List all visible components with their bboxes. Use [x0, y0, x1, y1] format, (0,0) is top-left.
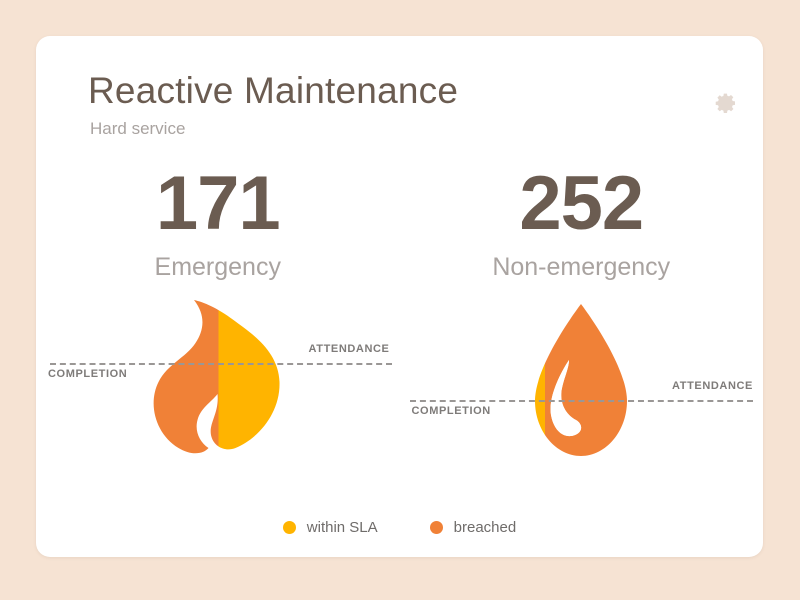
metric-value-non-emergency: 252 [519, 168, 643, 240]
settings-button[interactable] [709, 86, 743, 120]
legend-dot-orange-icon [430, 521, 443, 534]
completion-marker-label-emergency: COMPLETION [48, 368, 127, 380]
legend-label-within-sla: within SLA [307, 520, 378, 535]
metrics-row: 171 Emergency ATTENDANCE COMPLE [36, 168, 763, 478]
page-subtitle: Hard service [90, 119, 458, 139]
card-header: Reactive Maintenance Hard service [88, 70, 458, 139]
metric-label-non-emergency: Non-emergency [492, 254, 670, 282]
droplet-icon [531, 298, 631, 463]
gauge-non-emergency: ATTENDANCE COMPLETION [400, 298, 764, 478]
attendance-marker-line-non-emergency [410, 400, 754, 402]
flame-icon [145, 298, 290, 458]
gauge-emergency: ATTENDANCE COMPLETION [36, 298, 400, 478]
metric-label-emergency: Emergency [155, 254, 281, 282]
dashboard-card: Reactive Maintenance Hard service 171 Em… [36, 36, 763, 557]
attendance-marker-label-emergency: ATTENDANCE [309, 343, 390, 355]
attendance-marker-label-non-emergency: ATTENDANCE [672, 380, 753, 392]
metric-value-emergency: 171 [156, 168, 280, 240]
legend-dot-yellow-icon [283, 521, 296, 534]
legend-label-breached: breached [454, 520, 517, 535]
gear-icon [714, 91, 738, 115]
metric-non-emergency[interactable]: 252 Non-emergency ATTENDANCE [400, 168, 764, 478]
legend-item-breached[interactable]: breached [430, 520, 517, 535]
legend-item-within-sla[interactable]: within SLA [283, 520, 378, 535]
legend: within SLA breached [36, 520, 763, 535]
attendance-marker-line-emergency [50, 363, 392, 365]
completion-marker-label-non-emergency: COMPLETION [412, 405, 491, 417]
page-title: Reactive Maintenance [88, 70, 458, 113]
metric-emergency[interactable]: 171 Emergency ATTENDANCE COMPLE [36, 168, 400, 478]
